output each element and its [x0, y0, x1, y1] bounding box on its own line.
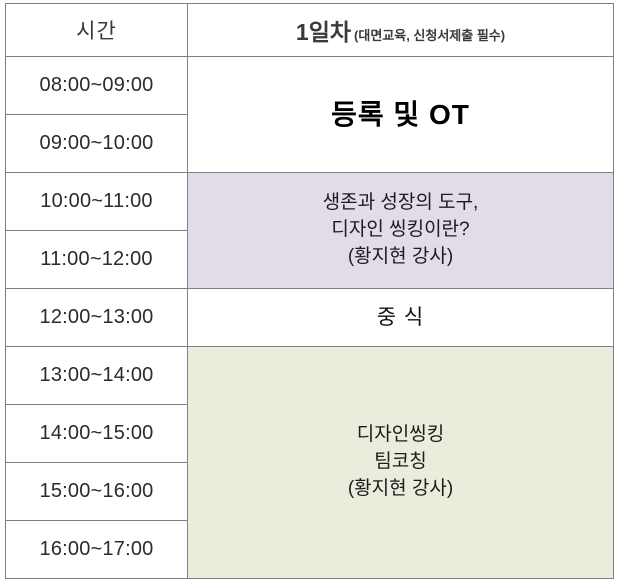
schedule-table-container: 시간 1일차(대면교육, 신청서제출 필수) 08:00~09:00 등록 및 … — [5, 3, 613, 579]
session-cell-registration-ot: 등록 및 OT — [188, 57, 614, 173]
header-cell-time: 시간 — [6, 4, 188, 57]
header-day-note: (대면교육, 신청서제출 필수) — [354, 28, 505, 43]
table-row: 13:00~14:00 디자인씽킹 팀코칭 (황지현 강사) — [6, 347, 614, 405]
time-cell-1400: 14:00~15:00 — [6, 405, 188, 463]
time-cell-1300: 13:00~14:00 — [6, 347, 188, 405]
header-cell-day1: 1일차(대면교육, 신청서제출 필수) — [188, 4, 614, 57]
course-schedule-table: 시간 1일차(대면교육, 신청서제출 필수) 08:00~09:00 등록 및 … — [5, 3, 614, 579]
session-line-1: 디자인씽킹 — [188, 422, 613, 449]
table-row: 10:00~11:00 생존과 성장의 도구, 디자인 씽킹이란? (황지현 강… — [6, 173, 614, 231]
session-cell-design-thinking-lecture: 생존과 성장의 도구, 디자인 씽킹이란? (황지현 강사) — [188, 173, 614, 289]
table-row: 08:00~09:00 등록 및 OT — [6, 57, 614, 115]
time-cell-1500: 15:00~16:00 — [6, 463, 188, 521]
table-header-row: 시간 1일차(대면교육, 신청서제출 필수) — [6, 4, 614, 57]
session-line-2: 디자인 씽킹이란? — [188, 217, 613, 244]
session-line-2: 팀코칭 — [188, 449, 613, 476]
session-line-1: 생존과 성장의 도구, — [188, 190, 613, 217]
time-cell-1200: 12:00~13:00 — [6, 289, 188, 347]
session-title-registration-ot: 등록 및 OT — [331, 99, 470, 130]
session-cell-team-coaching: 디자인씽킹 팀코칭 (황지현 강사) — [188, 347, 614, 579]
time-cell-0800: 08:00~09:00 — [6, 57, 188, 115]
header-time-label: 시간 — [76, 20, 117, 43]
session-title-lunch: 중 식 — [377, 306, 424, 329]
time-cell-1600: 16:00~17:00 — [6, 521, 188, 579]
time-cell-1000: 10:00~11:00 — [6, 173, 188, 231]
header-day-title: 1일차 — [296, 19, 351, 45]
table-row: 12:00~13:00 중 식 — [6, 289, 614, 347]
time-cell-0900: 09:00~10:00 — [6, 115, 188, 173]
session-cell-lunch: 중 식 — [188, 289, 614, 347]
time-cell-1100: 11:00~12:00 — [6, 231, 188, 289]
session-instructor: (황지현 강사) — [188, 476, 613, 503]
session-instructor: (황지현 강사) — [188, 244, 613, 271]
